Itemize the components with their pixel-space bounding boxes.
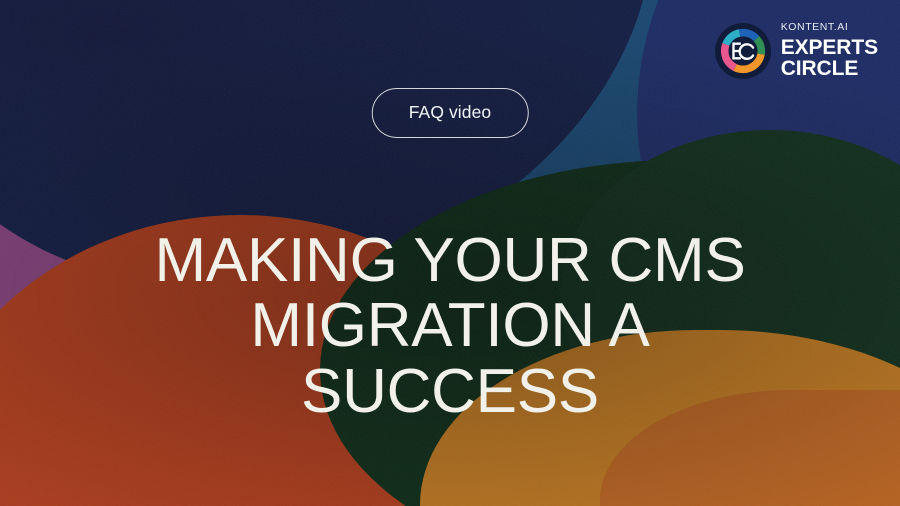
faq-video-badge[interactable]: FAQ video <box>372 88 529 138</box>
headline-line-1: MAKING YOUR CMS <box>40 228 860 294</box>
headline-line-2: MIGRATION A <box>40 293 860 359</box>
logo-wordmark-group: KONTENT.AI EXPERTS CIRCLE <box>781 22 878 80</box>
headline-line-3: SUCCESS <box>40 359 860 425</box>
circle-word: CIRCLE <box>781 58 878 80</box>
experts-word: EXPERTS <box>781 37 878 59</box>
experts-circle-logo-lockup[interactable]: KONTENT.AI EXPERTS CIRCLE <box>715 22 878 80</box>
kontent-ai-wordmark: KONTENT.AI <box>781 22 878 33</box>
experts-circle-ring-icon <box>715 23 771 79</box>
page-title: MAKING YOUR CMS MIGRATION A SUCCESS <box>0 228 900 425</box>
banner-canvas: KONTENT.AI EXPERTS CIRCLE FAQ video MAKI… <box>0 0 900 506</box>
